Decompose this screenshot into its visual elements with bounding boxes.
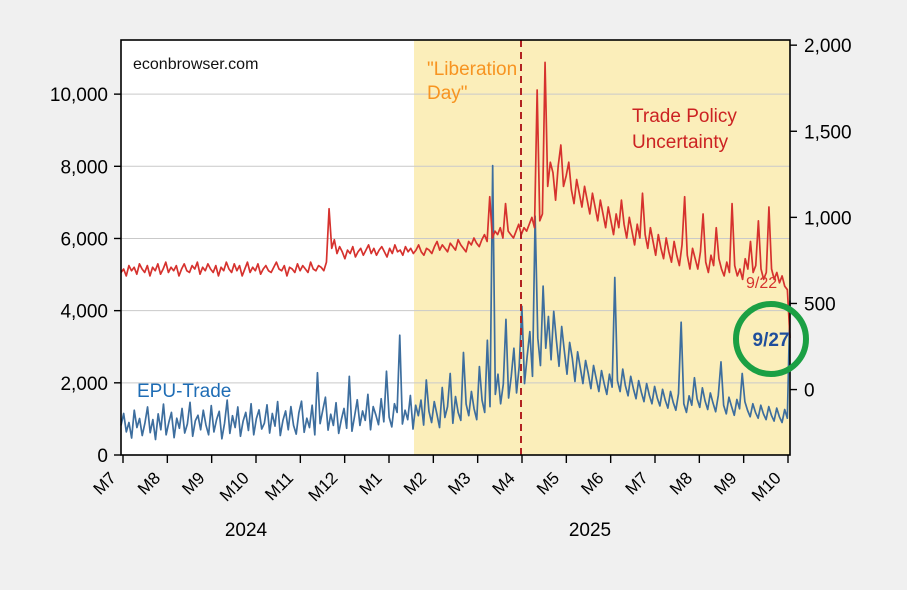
chart-figure: 02,0004,0006,0008,00010,000 05001,0001,5… [0, 0, 907, 590]
red-last-value-label: 9/22 [746, 275, 777, 292]
right-axis-tick-label: 0 [804, 381, 815, 402]
year-label-2024: 2024 [225, 520, 268, 541]
right-axis-tick-label: 1,500 [804, 122, 852, 143]
blue-last-value-label: 9/27 [753, 330, 790, 351]
left-axis-tick-label: 2,000 [60, 374, 108, 395]
epu-trade-label: EPU-Trade [137, 381, 231, 402]
watermark-label: econbrowser.com [133, 56, 258, 73]
left-axis-tick-label: 8,000 [60, 157, 108, 178]
left-axis-tick-label: 10,000 [50, 85, 108, 106]
chart-root: 02,0004,0006,0008,00010,000 05001,0001,5… [0, 0, 907, 590]
left-axis-tick-label: 0 [97, 446, 108, 467]
right-axis-tick-label: 1,000 [804, 208, 852, 229]
left-axis-tick-label: 6,000 [60, 229, 108, 250]
right-axis-tick-label: 2,000 [804, 36, 852, 57]
right-axis-tick-label: 500 [804, 294, 836, 315]
trade-policy-uncertainty-label-line1: Trade Policy [632, 106, 737, 127]
trade-policy-uncertainty-label-line2: Uncertainty [632, 132, 729, 153]
left-axis-tick-label: 4,000 [60, 302, 108, 323]
liberation-day-annotation-line1: "Liberation [427, 59, 517, 80]
year-label-2025: 2025 [569, 520, 611, 541]
liberation-day-annotation-line2: Day" [427, 83, 468, 104]
